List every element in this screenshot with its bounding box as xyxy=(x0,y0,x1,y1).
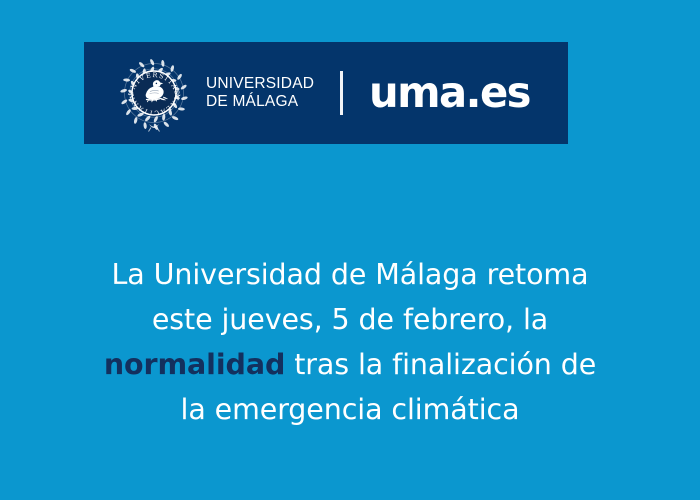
headline-line-2-text: este jueves, 5 de febrero, la xyxy=(152,303,548,336)
headline-line-2: este jueves, 5 de febrero, la xyxy=(0,297,700,342)
headline-line-4: la emergencia climática xyxy=(0,387,700,432)
wordmark-line-1: UNIVERSIDAD xyxy=(206,75,314,93)
uma-seal-icon: UNIVERSITAS MALACITANA xyxy=(120,53,188,133)
headline-line-3: normalidad tras la finalización de xyxy=(0,342,700,387)
brand-header-bar: UNIVERSITAS MALACITANA xyxy=(84,42,568,144)
wordmark-line-2: DE MÁLAGA xyxy=(206,93,314,111)
headline-line-1: La Universidad de Málaga retoma xyxy=(0,252,700,297)
university-wordmark: UNIVERSIDAD DE MÁLAGA xyxy=(206,75,314,111)
headline-line-4-text: la emergencia climática xyxy=(181,393,520,426)
headline: La Universidad de Málaga retoma este jue… xyxy=(0,252,700,432)
headline-line-1-text: La Universidad de Málaga retoma xyxy=(112,258,589,291)
vertical-divider xyxy=(340,71,343,115)
umaes-logotype: uma.es xyxy=(369,72,530,115)
headline-emphasis-normalidad: normalidad xyxy=(104,348,285,381)
poster-canvas: UNIVERSITAS MALACITANA xyxy=(0,0,700,500)
headline-line-3-text: tras la finalización de xyxy=(285,348,596,381)
